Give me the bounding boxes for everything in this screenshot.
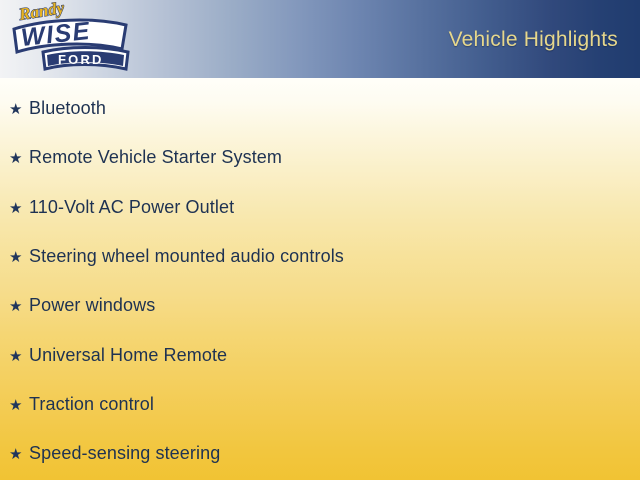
star-bullet-icon: ★ xyxy=(9,398,29,413)
feature-item: ★Power windows xyxy=(9,296,155,314)
feature-label: Bluetooth xyxy=(29,99,106,117)
feature-item: ★Steering wheel mounted audio controls xyxy=(9,247,344,265)
star-bullet-icon: ★ xyxy=(9,151,29,166)
feature-item: ★Remote Vehicle Starter System xyxy=(9,148,282,166)
feature-item: ★Bluetooth xyxy=(9,99,106,117)
star-bullet-icon: ★ xyxy=(9,349,29,364)
star-bullet-icon: ★ xyxy=(9,250,29,265)
star-bullet-icon: ★ xyxy=(9,447,29,462)
feature-label: 110-Volt AC Power Outlet xyxy=(29,198,234,216)
page-header: Randy WISE FORD Vehicle Highlights xyxy=(0,0,640,78)
star-bullet-icon: ★ xyxy=(9,299,29,314)
feature-item: ★Universal Home Remote xyxy=(9,346,227,364)
feature-label: Universal Home Remote xyxy=(29,346,227,364)
logo-artwork: Randy WISE FORD xyxy=(6,2,138,76)
logo-banner-text: FORD xyxy=(58,52,104,67)
feature-label: Power windows xyxy=(29,296,155,314)
feature-item: ★110-Volt AC Power Outlet xyxy=(9,198,234,216)
feature-label: Speed-sensing steering xyxy=(29,444,220,462)
star-bullet-icon: ★ xyxy=(9,102,29,117)
feature-item: ★Speed-sensing steering xyxy=(9,444,220,462)
vehicle-highlights-list: ★Bluetooth★Remote Vehicle Starter System… xyxy=(0,78,640,480)
vehicle-highlights-page: Randy WISE FORD Vehicle Highlights ★Blue… xyxy=(0,0,640,480)
page-title: Vehicle Highlights xyxy=(449,28,618,52)
star-bullet-icon: ★ xyxy=(9,201,29,216)
feature-label: Remote Vehicle Starter System xyxy=(29,148,282,166)
feature-item: ★Traction control xyxy=(9,395,154,413)
randy-wise-ford-logo: Randy WISE FORD xyxy=(6,2,138,76)
feature-label: Traction control xyxy=(29,395,154,413)
feature-label: Steering wheel mounted audio controls xyxy=(29,247,344,265)
